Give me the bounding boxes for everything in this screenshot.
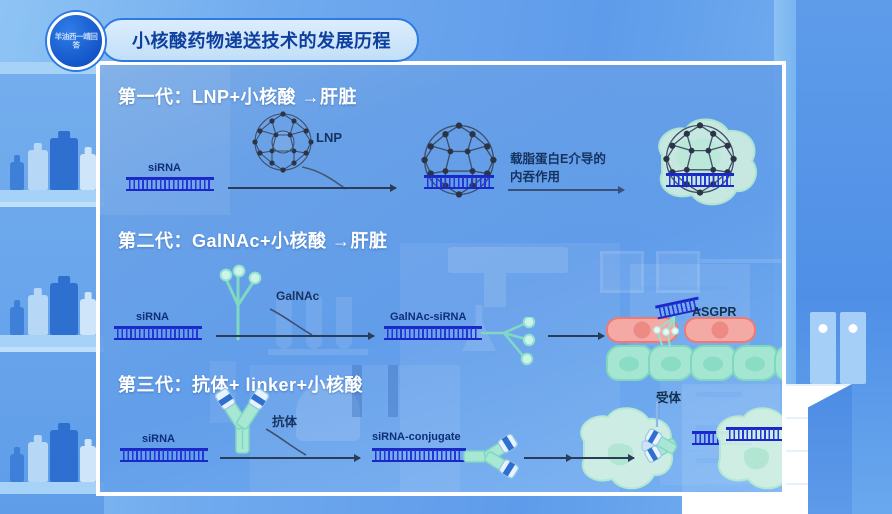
generation-1-row: 第一代：LNP+小核酸 →肝脏 siRNA bbox=[100, 65, 782, 215]
bottle bbox=[28, 295, 48, 335]
shelf-band bbox=[0, 482, 104, 494]
gen3-sirna-label: siRNA bbox=[142, 433, 175, 445]
timeline-card: 第一代：LNP+小核酸 →肝脏 siRNA bbox=[96, 61, 786, 496]
shelf-row bbox=[0, 267, 104, 335]
shelf-row bbox=[0, 122, 104, 190]
binder-hole-icon bbox=[819, 324, 828, 333]
gen3-sirna-duplex bbox=[120, 448, 208, 462]
generation-2-title: 第二代：GalNAc+小核酸 →肝脏 bbox=[118, 227, 388, 253]
gen1-arrow-1 bbox=[228, 187, 396, 189]
gen1-arrow-2 bbox=[508, 189, 624, 191]
gen3-conjugate-label: siRNA-conjugate bbox=[372, 431, 461, 443]
gen3-released-sirna bbox=[726, 427, 786, 441]
gen1-released-sirna bbox=[666, 173, 734, 187]
gen3-conjugate-duplex bbox=[372, 448, 466, 462]
bottle bbox=[10, 454, 24, 482]
brand-logo[interactable]: 羊油西一靖回答 bbox=[47, 12, 105, 70]
shelf-row bbox=[0, 414, 104, 482]
bottle bbox=[80, 299, 96, 335]
gen2-conjugate-duplex bbox=[384, 326, 482, 340]
gen3-arrow-3 bbox=[560, 457, 634, 459]
gen3-arrow-1 bbox=[220, 457, 360, 459]
gen3-tether bbox=[264, 427, 308, 459]
bottle bbox=[28, 150, 48, 190]
gen1-loaded-lnp-icon bbox=[416, 117, 502, 203]
gen3-final-cell bbox=[704, 401, 786, 496]
gen2-conjugate-label: GalNAc-siRNA bbox=[390, 311, 466, 323]
brand-logo-text: 羊油西一靖回答 bbox=[51, 32, 100, 49]
infographic-stage: 第一代：LNP+小核酸 →肝脏 siRNA bbox=[0, 0, 892, 514]
generation-3-row: 第三代：抗体+ linker+小核酸 siRNA bbox=[100, 357, 782, 496]
gen1-lnp-label: LNP bbox=[316, 130, 342, 145]
bottle bbox=[28, 442, 48, 482]
bottle bbox=[10, 307, 24, 335]
gen1-process-label-line1: 载脂蛋白E介导的 bbox=[510, 148, 606, 167]
gen1-internalized-lnp-icon bbox=[658, 117, 742, 201]
gen3-conjugate-antibody-icon bbox=[462, 427, 524, 489]
bottle bbox=[80, 154, 96, 190]
bottle bbox=[50, 283, 78, 335]
generation-2-row: 第二代：GalNAc+小核酸 →肝脏 siRNA bbox=[100, 213, 782, 358]
gen1-sirna-duplex bbox=[126, 177, 214, 191]
shelf-band bbox=[0, 190, 104, 202]
binder bbox=[810, 312, 836, 384]
bottle bbox=[10, 162, 24, 190]
gen2-liver-epithelium bbox=[508, 213, 786, 358]
bottle bbox=[80, 446, 96, 482]
shelf-band bbox=[0, 335, 104, 347]
shelf-divider bbox=[0, 347, 104, 352]
gen1-process-label-line2: 内吞作用 bbox=[510, 166, 560, 185]
gen2-asgpr-label: ASGPR bbox=[692, 305, 736, 319]
page-title: 小核酸药物递送技术的发展历程 bbox=[132, 27, 391, 53]
red-cell bbox=[684, 317, 756, 343]
bottle bbox=[50, 138, 78, 190]
gen2-arrow-1 bbox=[216, 335, 374, 337]
page-title-pill: 小核酸药物递送技术的发展历程 bbox=[100, 18, 419, 62]
gen3-bound-antibody-icon bbox=[640, 423, 706, 469]
gen2-sirna-label: siRNA bbox=[136, 311, 169, 323]
binder bbox=[840, 312, 866, 384]
left-shelf-unit bbox=[0, 62, 104, 514]
gen2-galnac-label: GalNAc bbox=[276, 289, 319, 303]
gen1-encapsulated-sirna bbox=[424, 175, 494, 189]
shelf-divider bbox=[0, 202, 104, 207]
generation-1-title: 第一代：LNP+小核酸 →肝脏 bbox=[118, 83, 357, 109]
gen1-sirna-label: siRNA bbox=[148, 162, 181, 174]
gen2-galnac-icon bbox=[216, 261, 276, 341]
gen2-sirna-duplex bbox=[114, 326, 202, 340]
binder-hole-icon bbox=[849, 324, 858, 333]
bottle bbox=[50, 430, 78, 482]
gen2-asgpr-binding-icon bbox=[648, 315, 692, 349]
